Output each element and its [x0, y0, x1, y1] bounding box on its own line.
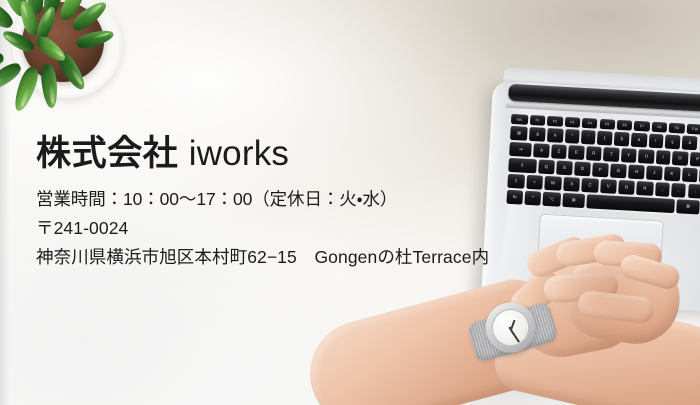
key: §	[614, 132, 630, 147]
key: R	[586, 146, 602, 161]
key: F7	[634, 121, 650, 132]
business-hours: 営業時間：10：00〜17：00（定休日：火・水）	[36, 185, 506, 214]
key: S	[556, 161, 573, 176]
key: ⇥	[509, 142, 532, 157]
key: A	[533, 143, 549, 158]
company-name-latin: iworks	[189, 134, 289, 173]
key: (	[597, 131, 612, 146]
key: "	[565, 129, 580, 144]
key: V	[600, 179, 617, 194]
knuckle-shading	[552, 266, 660, 332]
key: F8	[651, 122, 667, 133]
company-info-banner: esc F1 F2 F3 F4 F5 F6 F7 F8 F9 F10 F11 F…	[0, 0, 700, 405]
key: J	[646, 166, 662, 181]
key: N	[636, 181, 653, 196]
key: F3	[564, 117, 580, 128]
key: F5	[599, 119, 615, 130]
key: F10	[686, 124, 700, 135]
key: ⌘	[676, 200, 700, 215]
key: ⇪	[508, 158, 536, 174]
key: F6	[617, 120, 633, 131]
key: I	[656, 150, 670, 165]
key: fn	[506, 190, 523, 205]
key: ;	[671, 183, 686, 198]
key: P	[690, 152, 700, 167]
key: ç	[665, 135, 681, 150]
key: F2	[547, 116, 563, 127]
key: &	[529, 127, 546, 142]
key: F	[592, 163, 608, 178]
company-text-block: 株式会社 iworks 営業時間：10：00〜17：00（定休日：火・水） 〒2…	[36, 131, 506, 272]
key: E	[568, 145, 584, 160]
key: è	[631, 133, 647, 148]
key: '	[581, 130, 596, 145]
key: C	[582, 178, 599, 193]
key: ⌘	[562, 193, 586, 208]
key: K	[664, 167, 681, 182]
key: à	[682, 136, 698, 151]
key: Y	[621, 148, 637, 163]
key: ⇧	[507, 174, 525, 189]
key: @	[510, 126, 528, 141]
key: U	[638, 149, 654, 164]
key: H	[628, 165, 645, 180]
key: é	[547, 128, 563, 143]
key: F4	[582, 118, 598, 129]
key: !	[648, 134, 663, 149]
key: F1	[530, 115, 546, 126]
key: L	[682, 168, 698, 183]
key: ,	[655, 182, 670, 197]
key: ⌃	[524, 191, 541, 206]
key: D	[574, 162, 591, 177]
address: 神奈川県横浜市旭区本村町62−15 Gongenの杜Terrace内	[36, 243, 506, 272]
key: T	[603, 147, 619, 162]
key: ⌥	[543, 192, 561, 207]
key: W	[544, 176, 562, 191]
key: O	[672, 151, 689, 166]
key: Q	[538, 160, 555, 175]
key: Z	[551, 144, 567, 159]
postal-code: 〒241-0024	[36, 214, 506, 243]
key: B	[618, 180, 635, 195]
key: X	[563, 177, 580, 192]
key: G	[610, 164, 627, 179]
potted-plant	[0, 0, 124, 116]
laptop-keyboard: esc F1 F2 F3 F4 F5 F6 F7 F8 F9 F10 F11 F…	[507, 114, 700, 216]
key: F9	[669, 123, 685, 134]
company-name-jp: 株式会社	[36, 134, 178, 173]
key: esc	[511, 114, 528, 125]
key: :	[688, 184, 700, 199]
page-title: 株式会社 iworks	[36, 131, 506, 177]
key: <	[526, 175, 542, 190]
